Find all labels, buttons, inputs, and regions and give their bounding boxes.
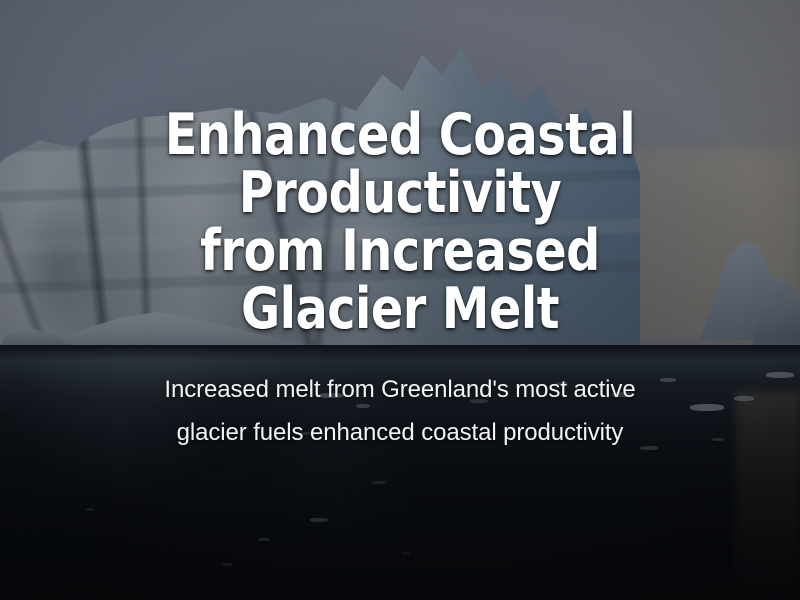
slide-content: Enhanced Coastal Productivity from Incre… <box>0 0 800 600</box>
slide-subtitle: Increased melt from Greenland's most act… <box>100 368 700 454</box>
title-slide: Enhanced Coastal Productivity from Incre… <box>0 0 800 600</box>
slide-title: Enhanced Coastal Productivity from Incre… <box>112 106 689 338</box>
